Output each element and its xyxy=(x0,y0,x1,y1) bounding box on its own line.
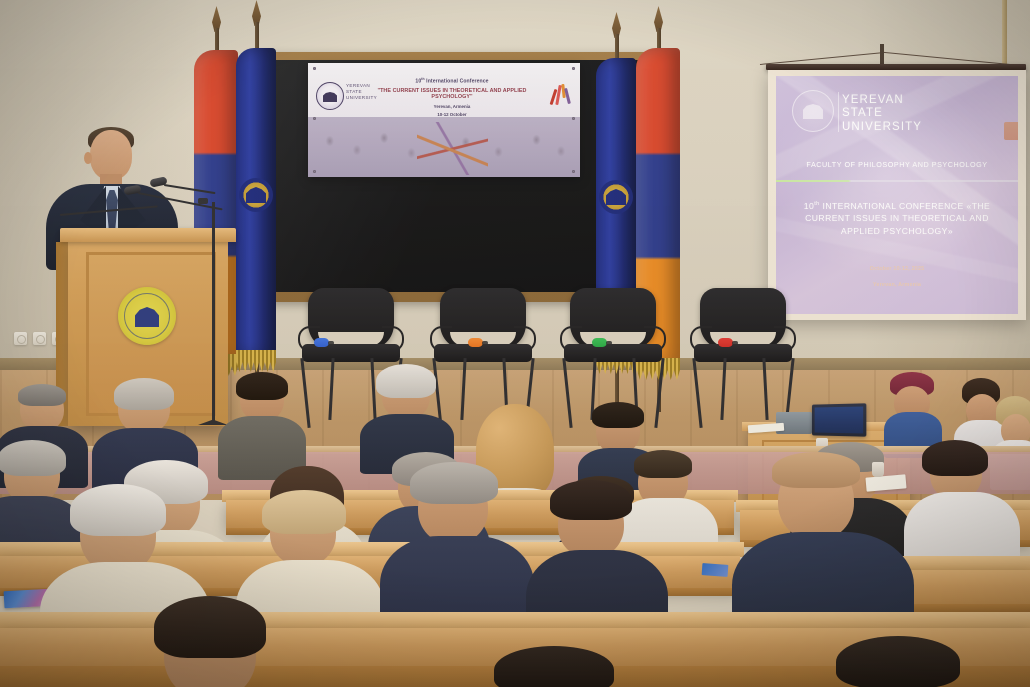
chair-leg xyxy=(654,358,664,428)
conference-hall-photo: YEREVAN STATE UNIVERSITY 10th Internatio… xyxy=(0,0,1030,687)
chair-leg xyxy=(720,358,726,420)
attendee-hair-blonde xyxy=(262,490,346,534)
attendee-hair-dark xyxy=(236,372,288,400)
banner-grommet-tr xyxy=(572,67,575,70)
attendee-hair-grey xyxy=(410,462,498,504)
podium-university-seal-icon xyxy=(118,287,176,345)
projection-screen-frame: YEREVAN STATE UNIVERSITY FACULTY OF PHIL… xyxy=(768,70,1026,320)
attendee-hair-bald xyxy=(634,450,692,478)
banner-line-2: "THE CURRENT ISSUES IN THEORETICAL AND A… xyxy=(360,88,544,100)
screen-hook xyxy=(880,44,884,66)
water-bottle-orange xyxy=(468,338,483,347)
banner-grommet-ml xyxy=(313,117,316,120)
slide-date: October 10-12, 2025 xyxy=(776,266,1018,272)
attendee-hair xyxy=(18,384,66,406)
microphone-clip-1 xyxy=(198,198,208,204)
banner-grommet-tl xyxy=(313,67,316,70)
speaker-head xyxy=(90,130,132,180)
chair-leg xyxy=(300,358,310,428)
banner-line-4: 10-12 October xyxy=(360,112,544,117)
panel-chair-4 xyxy=(688,288,798,423)
chair-leg xyxy=(328,358,334,420)
chair-leg xyxy=(562,358,572,428)
chair-seat xyxy=(434,344,532,362)
microphone-stand-1 xyxy=(212,202,215,424)
slide-accent-rule xyxy=(776,180,1018,182)
attendee-hair-dark xyxy=(922,440,988,476)
slide-ysu-seal-icon xyxy=(792,90,834,132)
banner-grommet-mr xyxy=(572,117,575,120)
technician-laptop xyxy=(812,403,866,436)
chair-seat xyxy=(564,344,662,362)
attendee-hair-dark xyxy=(494,646,614,687)
banner-ysu-seal-icon xyxy=(316,82,344,110)
slide-faculty-name: FACULTY OF PHILOSOPHY AND PSYCHOLOGY xyxy=(776,160,1018,169)
water-bottle-green xyxy=(592,338,607,347)
slide-conference-title: 10th INTERNATIONAL CONFERENCE «THE CURRE… xyxy=(788,200,1006,237)
banner-grommet-bl xyxy=(313,170,316,173)
water-bottle-red xyxy=(718,338,733,347)
banner-partner-logo-icon xyxy=(550,83,574,107)
attendee-hair-dark xyxy=(592,402,644,428)
university-flag-emblem-icon xyxy=(599,180,633,214)
banner-text-block: 10th International Conference "THE CURRE… xyxy=(360,77,544,117)
slide-university-name: YEREVAN STATE UNIVERSITY xyxy=(842,94,922,134)
projection-screen: YEREVAN STATE UNIVERSITY FACULTY OF PHIL… xyxy=(776,76,1018,314)
university-flag-emblem-icon xyxy=(239,178,273,212)
chair-leg xyxy=(460,358,466,420)
chair-leg xyxy=(762,358,768,420)
wall-outlet-2 xyxy=(33,332,46,345)
banner-line-3: Yerevan, Armenia xyxy=(360,104,544,109)
attendee-hair-dark xyxy=(550,480,632,520)
slide-orange-accent xyxy=(1004,122,1018,140)
banner-grommet-br xyxy=(572,170,575,173)
attendee-hair-grey xyxy=(0,440,66,476)
laptop-screen xyxy=(815,406,864,433)
water-bottle-blue xyxy=(314,338,329,347)
chair-leg xyxy=(692,358,702,428)
panel-chair-2 xyxy=(428,288,538,423)
screen-suspension-cable xyxy=(760,6,1010,68)
conference-banner: YEREVAN STATE UNIVERSITY 10th Internatio… xyxy=(308,63,580,177)
attendee-hair-grey xyxy=(114,378,174,410)
speaker-ear xyxy=(84,152,92,164)
wall-outlet-1 xyxy=(14,332,27,345)
conference-program-booklet-2 xyxy=(702,563,729,577)
banner-graphic-swoosh xyxy=(417,122,488,174)
podium-lectern-top xyxy=(60,228,236,242)
slide-vertical-divider xyxy=(838,92,839,132)
attendee-hair-dark xyxy=(154,596,266,658)
chair-seat xyxy=(694,344,792,362)
attendee-hair-dark xyxy=(836,636,960,687)
coffee-cup-2 xyxy=(872,462,884,477)
attendee-hair-bald-fringe xyxy=(772,452,860,488)
banner-line-1: 10th International Conference xyxy=(360,77,544,85)
attendee-hair-white xyxy=(70,484,166,536)
attendee-hair-white xyxy=(376,364,436,398)
slide-place: Yerevan, Armenia xyxy=(776,282,1018,288)
